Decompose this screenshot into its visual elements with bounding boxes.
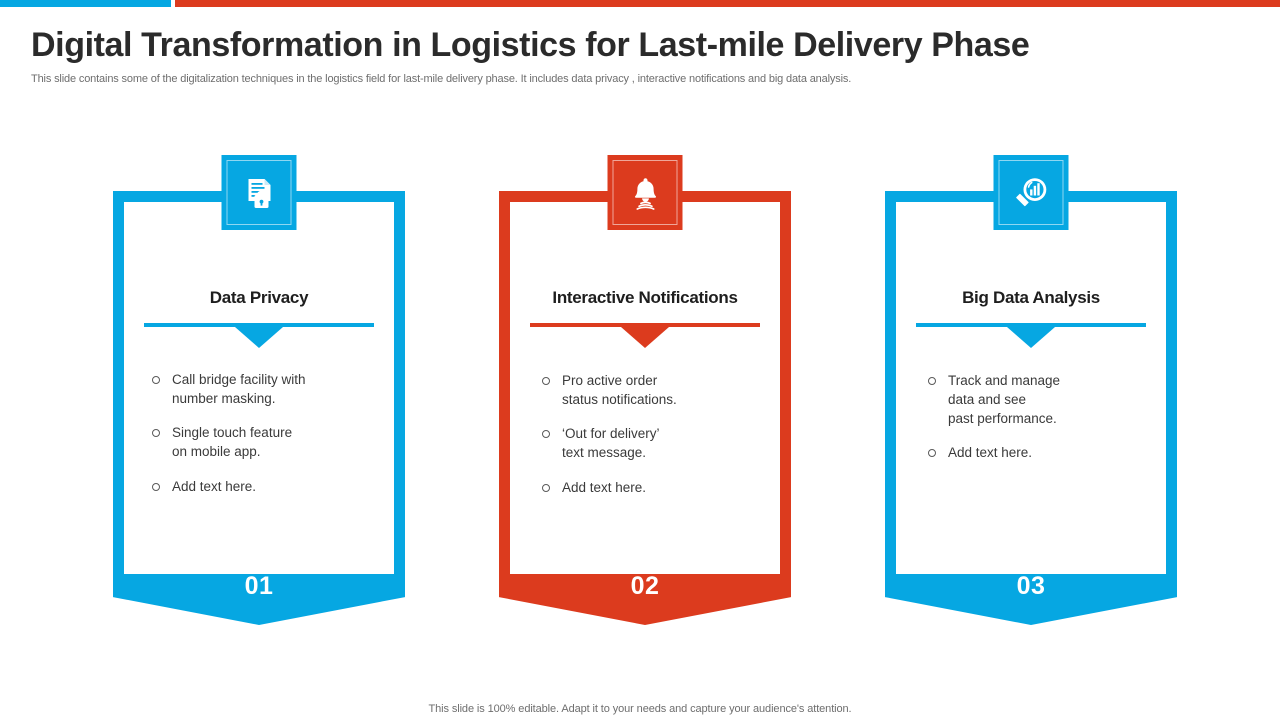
card-body: Interactive Notifications Pro active ord… xyxy=(510,202,780,574)
card-big-data-analysis[interactable]: Big Data Analysis Track and manage data … xyxy=(885,155,1177,630)
bullet-list: Pro active order status notifications. ‘… xyxy=(540,371,770,512)
list-item: Add text here. xyxy=(926,443,1156,462)
card-divider xyxy=(530,323,760,327)
card-divider xyxy=(916,323,1146,327)
page-subtitle: This slide contains some of the digitali… xyxy=(31,73,851,85)
list-item: Call bridge facility with number masking… xyxy=(150,370,384,408)
slide-canvas: Digital Transformation in Logistics for … xyxy=(0,0,1280,720)
top-accent-bar-red xyxy=(175,0,1280,7)
footer-note: This slide is 100% editable. Adapt it to… xyxy=(0,703,1280,715)
card-title: Big Data Analysis xyxy=(896,288,1166,308)
card-group: Data Privacy Call bridge facility with n… xyxy=(0,155,1280,635)
card-title: Interactive Notifications xyxy=(510,288,780,308)
magnifier-bar-chart-icon xyxy=(994,155,1069,230)
top-accent-bar-blue xyxy=(0,0,171,7)
notification-bell-icon xyxy=(608,155,683,230)
card-body: Big Data Analysis Track and manage data … xyxy=(896,202,1166,574)
list-item: ‘Out for delivery’ text message. xyxy=(540,424,770,462)
bullet-list: Track and manage data and see past perfo… xyxy=(926,371,1156,478)
list-item: Add text here. xyxy=(540,478,770,497)
card-divider-chevron xyxy=(235,327,283,348)
card-number: 02 xyxy=(631,572,660,625)
card-divider xyxy=(144,323,374,327)
list-item: Pro active order status notifications. xyxy=(540,371,770,409)
card-number: 03 xyxy=(1017,572,1046,625)
card-title: Data Privacy xyxy=(124,288,394,308)
card-divider-chevron xyxy=(621,327,669,348)
card-divider-chevron xyxy=(1007,327,1055,348)
bullet-list: Call bridge facility with number masking… xyxy=(150,370,384,511)
document-lock-icon xyxy=(222,155,297,230)
card-body: Data Privacy Call bridge facility with n… xyxy=(124,202,394,574)
card-data-privacy[interactable]: Data Privacy Call bridge facility with n… xyxy=(113,155,405,630)
page-title: Digital Transformation in Logistics for … xyxy=(31,26,1029,65)
card-number: 01 xyxy=(245,572,274,625)
list-item: Add text here. xyxy=(150,477,384,496)
list-item: Track and manage data and see past perfo… xyxy=(926,371,1156,428)
list-item: Single touch feature on mobile app. xyxy=(150,423,384,461)
card-interactive-notifications[interactable]: Interactive Notifications Pro active ord… xyxy=(499,155,791,630)
